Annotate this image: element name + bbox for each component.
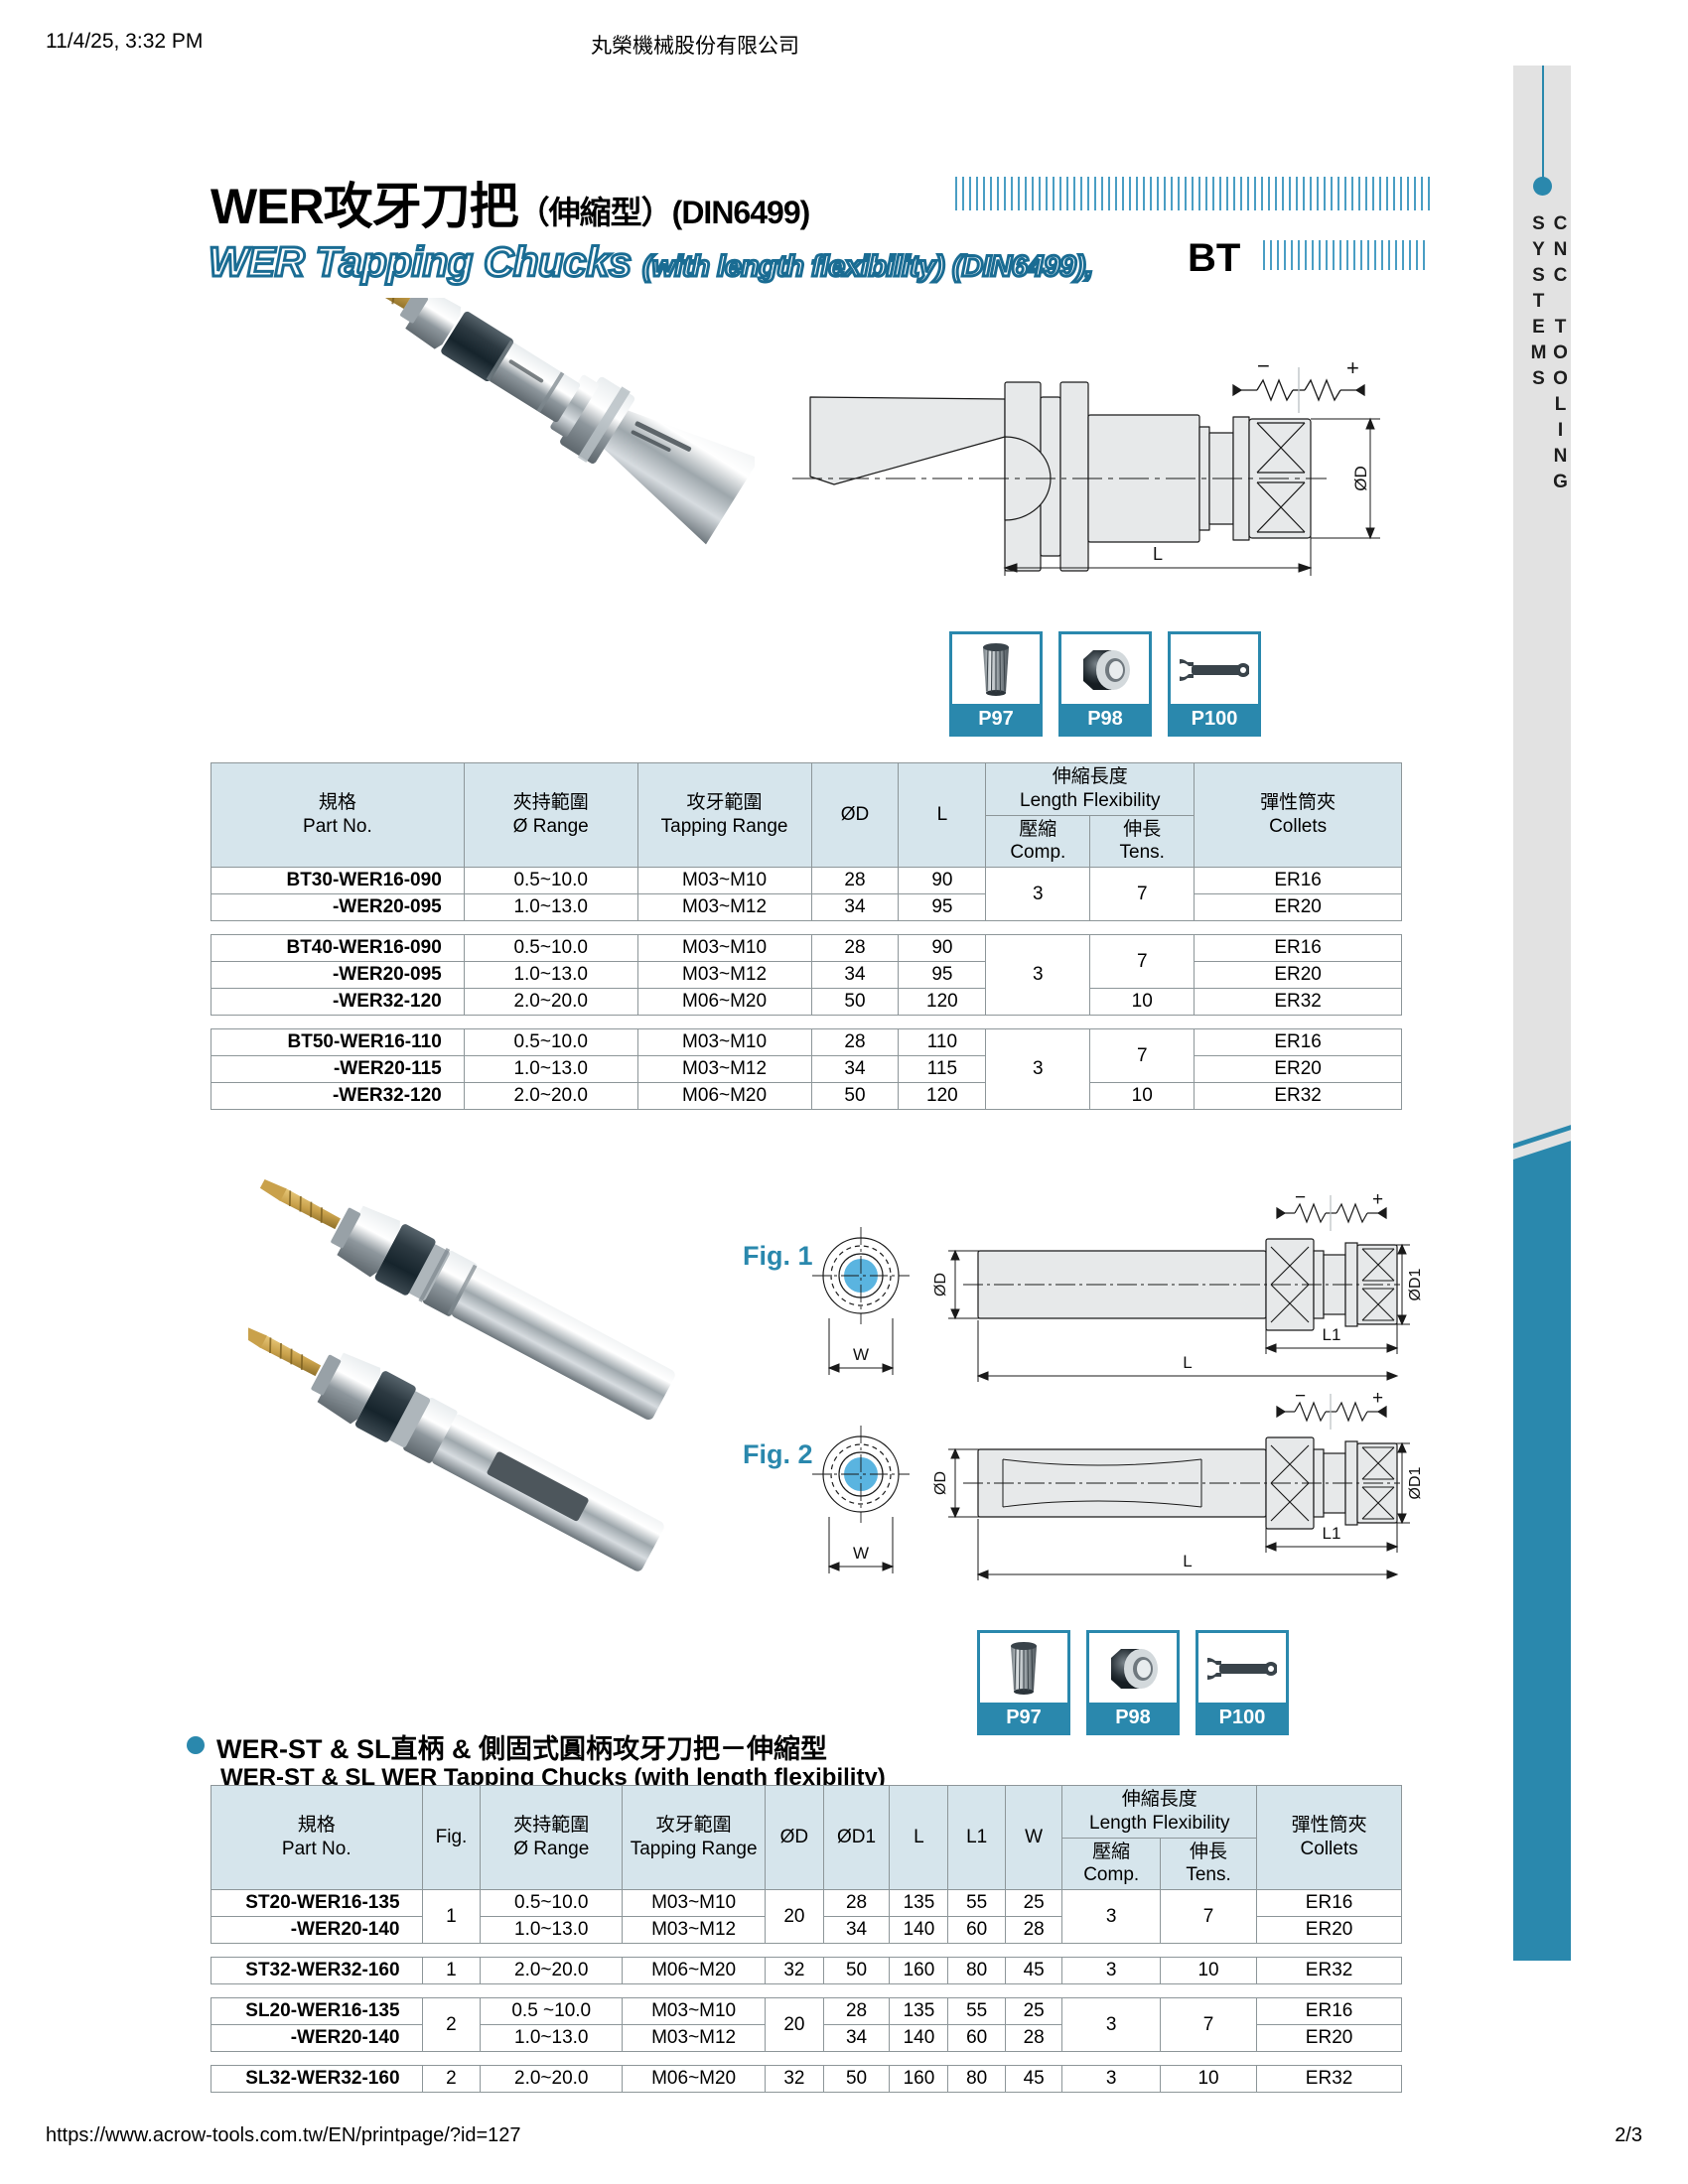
dim-label-l1-fig1: L1 <box>1323 1325 1341 1344</box>
cell-fig: 1 <box>422 1890 481 1944</box>
cell-l: 120 <box>899 1083 986 1110</box>
cell-range: 0.5~10.0 <box>464 935 637 962</box>
product-photo-st-tapping-chuck <box>248 1161 715 1578</box>
dim-label-l-top: L <box>1153 544 1163 564</box>
th2-fig: Fig. <box>422 1786 481 1890</box>
cell-tapping-range: M06~M20 <box>637 1083 811 1110</box>
cell-comp: 3 <box>1062 2066 1161 2093</box>
th-tens-en: Tens. <box>1120 842 1165 863</box>
th-tens: 伸長 Tens. <box>1090 815 1195 868</box>
cell-comp: 3 <box>986 1029 1090 1110</box>
cell-comp: 3 <box>986 868 1090 921</box>
decorative-hatch-bottom <box>1263 240 1430 270</box>
dimension-lines-fig2: L1 L <box>804 1519 1400 1608</box>
cell-fig: 1 <box>422 1958 481 1984</box>
cell-w: 45 <box>1005 2066 1062 2093</box>
cell-range: 1.0~13.0 <box>464 894 637 921</box>
cell-comp: 3 <box>1062 1998 1161 2052</box>
th-collets: 彈性筒夾 Collets <box>1195 763 1402 868</box>
table-group-gap <box>211 2052 1402 2066</box>
cell-od1: 28 <box>823 1998 890 2025</box>
th2-comp-en: Comp. <box>1083 1864 1139 1885</box>
th2-comp-cn: 壓縮 <box>1092 1842 1130 1862</box>
cell-part-no: -WER32-120 <box>211 1083 465 1110</box>
cell-tapping-range: M03~M12 <box>623 1917 766 1944</box>
ref-box-label: P98 <box>1089 1703 1177 1732</box>
cell-l1: 80 <box>948 1958 1006 1984</box>
cell-collets: ER20 <box>1195 962 1402 989</box>
dim-label-l1-fig2: L1 <box>1323 1524 1341 1543</box>
cell-tapping-range: M03~M10 <box>623 1890 766 1917</box>
cell-od1: 28 <box>823 1890 890 1917</box>
table-row: ST20-WER16-13510.5~10.0M03~M102028135552… <box>211 1890 1402 1917</box>
cell-part-no: BT50-WER16-110 <box>211 1029 465 1056</box>
cell-collets: ER20 <box>1195 1056 1402 1083</box>
table-row: BT40-WER16-0900.5~10.0M03~M10289037ER16 <box>211 935 1402 962</box>
table-group-gap <box>211 921 1402 935</box>
cell-w: 28 <box>1005 1917 1062 1944</box>
ref-box-label: P97 <box>980 1703 1067 1732</box>
table-group-gap <box>211 1984 1402 1998</box>
spring-plus-label-top: + <box>1346 355 1359 380</box>
cell-l1: 55 <box>948 1998 1006 2025</box>
cell-tapping-range: M06~M20 <box>623 2066 766 2093</box>
th2-l: L <box>890 1786 948 1890</box>
cell-l: 120 <box>899 989 986 1016</box>
page-title-en-comma: , <box>1085 250 1093 283</box>
spring-minus-label-fig1: − <box>1295 1191 1306 1208</box>
collet-nut-icon <box>1061 634 1149 706</box>
cell-od: 28 <box>811 1029 899 1056</box>
cell-tapping-range: M03~M12 <box>637 962 811 989</box>
page-title-cn: WER攻牙刀把（伸縮型）(DIN6499) <box>211 167 809 238</box>
cell-collets: ER32 <box>1257 1958 1402 1984</box>
cell-tapping-range: M03~M10 <box>623 1998 766 2025</box>
cell-tens: 7 <box>1090 868 1195 921</box>
table-row: BT50-WER16-1100.5~10.0M03~M102811037ER16 <box>211 1029 1402 1056</box>
cell-l: 135 <box>890 1998 948 2025</box>
spec-table-st-sl-header: 規格 Part No. Fig. 夾持範圍 Ø Range 攻牙範圍 Tappi… <box>211 1786 1402 1890</box>
cell-collets: ER32 <box>1195 1083 1402 1110</box>
cell-range: 0.5~10.0 <box>464 868 637 894</box>
ref-box-label: P98 <box>1061 704 1149 734</box>
ref-box-p100-bottom[interactable]: P100 <box>1196 1630 1289 1735</box>
th-comp-cn: 壓縮 <box>1019 819 1056 840</box>
cell-collets: ER16 <box>1257 1890 1402 1917</box>
dim-label-od-fig1: ØD <box>932 1273 949 1297</box>
cell-range: 0.5~10.0 <box>464 1029 637 1056</box>
th2-flex-en: Length Flexibility <box>1089 1813 1230 1834</box>
collet-icon <box>980 1633 1067 1705</box>
th2-comp: 壓縮 Comp. <box>1062 1838 1161 1890</box>
ref-box-p98-bottom[interactable]: P98 <box>1086 1630 1180 1735</box>
cell-l: 95 <box>899 894 986 921</box>
cell-l: 160 <box>890 1958 948 1984</box>
cell-od: 28 <box>811 935 899 962</box>
dim-label-od-fig2: ØD <box>932 1471 949 1495</box>
cell-part-no: BT40-WER16-090 <box>211 935 465 962</box>
sidebar-blue-band <box>1513 1176 1571 1961</box>
cell-od1: 50 <box>823 1958 890 1984</box>
cell-od: 34 <box>811 894 899 921</box>
cell-range: 2.0~20.0 <box>481 2066 623 2093</box>
th2-flex-cn: 伸縮長度 <box>1122 1789 1197 1810</box>
cell-collets: ER20 <box>1195 894 1402 921</box>
cell-od: 20 <box>766 1890 823 1944</box>
table-group-gap <box>211 1944 1402 1958</box>
page-title-badge: BT <box>1188 236 1240 281</box>
th-tens-cn: 伸長 <box>1123 819 1161 840</box>
cell-tapping-range: M03~M12 <box>637 1056 811 1083</box>
dim-label-od-top: ØD <box>1351 466 1370 491</box>
th2-tapping-en: Tapping Range <box>631 1839 758 1859</box>
ref-box-p97-bottom[interactable]: P97 <box>977 1630 1070 1735</box>
table-row: -WER20-0951.0~13.0M03~M123495ER20 <box>211 962 1402 989</box>
dim-label-l-fig1: L <box>1183 1353 1192 1372</box>
cell-od: 32 <box>766 2066 823 2093</box>
cell-part-no: -WER32-120 <box>211 989 465 1016</box>
th2-range-en: Ø Range <box>513 1839 589 1859</box>
cell-l: 110 <box>899 1029 986 1056</box>
cell-od: 34 <box>811 962 899 989</box>
page-content: WER攻牙刀把（伸縮型）(DIN6499) WER Tapping Chucks… <box>0 0 1513 2184</box>
th2-tens-cn: 伸長 <box>1190 1842 1227 1862</box>
cell-w: 28 <box>1005 2025 1062 2052</box>
spec-table-bt-body: BT30-WER16-0900.5~10.0M03~M10289037ER16-… <box>211 868 1402 1110</box>
table-row: -WER20-0951.0~13.0M03~M123495ER20 <box>211 894 1402 921</box>
cell-range: 0.5~10.0 <box>481 1890 623 1917</box>
print-footer: https://www.acrow-tools.com.tw/EN/printp… <box>0 2124 1688 2158</box>
cell-tens: 7 <box>1090 935 1195 989</box>
cell-collets: ER16 <box>1195 868 1402 894</box>
spec-table-st-sl: 規格 Part No. Fig. 夾持範圍 Ø Range 攻牙範圍 Tappi… <box>211 1785 1402 2093</box>
page-title-en-small: (with length flexibility) (DIN6499) <box>642 250 1085 283</box>
cell-od: 20 <box>766 1998 823 2052</box>
cell-l: 115 <box>899 1056 986 1083</box>
th2-tapping-range: 攻牙範圍 Tapping Range <box>623 1786 766 1890</box>
cell-part-no: -WER20-095 <box>211 894 465 921</box>
table-row: -WER32-1202.0~20.0M06~M205012010ER32 <box>211 1083 1402 1110</box>
th2-collets: 彈性筒夾 Collets <box>1257 1786 1402 1890</box>
spec-table-bt: 規格 Part No. 夾持範圍 Ø Range 攻牙範圍 Tapping Ra… <box>211 762 1402 1110</box>
cell-od: 50 <box>811 1083 899 1110</box>
cell-part-no: -WER20-140 <box>211 1917 423 1944</box>
table-row: -WER32-1202.0~20.0M06~M205012010ER32 <box>211 989 1402 1016</box>
cell-tapping-range: M03~M10 <box>637 1029 811 1056</box>
spring-minus-label-fig2: − <box>1295 1390 1306 1407</box>
cell-part-no: -WER20-115 <box>211 1056 465 1083</box>
cell-part-no: ST32-WER32-160 <box>211 1958 423 1984</box>
cell-od: 50 <box>811 989 899 1016</box>
dim-label-od1-fig2: ØD1 <box>1407 1466 1424 1499</box>
cell-l1: 55 <box>948 1890 1006 1917</box>
ref-box-label: P97 <box>952 704 1040 734</box>
table-row: -WER20-1151.0~13.0M03~M1234115ER20 <box>211 1056 1402 1083</box>
ref-box-p97-top[interactable]: P97 <box>949 631 1043 737</box>
cell-part-no: -WER20-140 <box>211 2025 423 2052</box>
th2-collets-cn: 彈性筒夾 <box>1292 1815 1367 1836</box>
cell-od: 32 <box>766 1958 823 1984</box>
cell-fig: 2 <box>422 2066 481 2093</box>
th2-od: ØD <box>766 1786 823 1890</box>
cell-collets: ER32 <box>1257 2066 1402 2093</box>
decorative-hatch-top <box>955 177 1432 210</box>
dimension-line-l-top: L <box>774 536 1390 596</box>
cell-l: 135 <box>890 1890 948 1917</box>
ref-box-label: P100 <box>1198 1703 1286 1732</box>
cell-tapping-range: M03~M10 <box>637 935 811 962</box>
cell-tens: 7 <box>1090 1029 1195 1083</box>
cell-range: 1.0~13.0 <box>481 2025 623 2052</box>
th2-w: W <box>1005 1786 1062 1890</box>
collet-nut-icon <box>1089 1633 1177 1705</box>
th-part-no: 規格 Part No. <box>211 763 465 868</box>
th2-od1: ØD1 <box>823 1786 890 1890</box>
cell-part-no: BT30-WER16-090 <box>211 868 465 894</box>
cell-od1: 34 <box>823 2025 890 2052</box>
ref-box-p98-top[interactable]: P98 <box>1058 631 1152 737</box>
table-row: SL32-WER32-16022.0~20.0M06~M203250160804… <box>211 2066 1402 2093</box>
spec-table-bt-header: 規格 Part No. 夾持範圍 Ø Range 攻牙範圍 Tapping Ra… <box>211 763 1402 868</box>
cell-l: 90 <box>899 935 986 962</box>
th2-part-no: 規格 Part No. <box>211 1786 423 1890</box>
cell-od1: 50 <box>823 2066 890 2093</box>
cell-part-no: SL20-WER16-135 <box>211 1998 423 2025</box>
page-title-en: WER Tapping Chucks (with length flexibil… <box>209 238 1093 286</box>
ref-box-p100-top[interactable]: P100 <box>1168 631 1261 737</box>
cell-l: 140 <box>890 2025 948 2052</box>
th-flex-en: Length Flexibility <box>1020 790 1161 811</box>
sidebar-bullet-dot-icon <box>1533 177 1552 196</box>
cell-od1: 34 <box>823 1917 890 1944</box>
cell-comp: 3 <box>986 935 1090 1016</box>
cell-part-no: SL32-WER32-160 <box>211 2066 423 2093</box>
th-od: ØD <box>811 763 899 868</box>
cell-comp: 3 <box>1062 1890 1161 1944</box>
dimension-od1-fig2: ØD1 <box>1380 1390 1430 1549</box>
th2-length-flexibility: 伸縮長度 Length Flexibility <box>1062 1786 1257 1839</box>
th2-range: 夾持範圍 Ø Range <box>481 1786 623 1890</box>
cell-l1: 60 <box>948 1917 1006 1944</box>
cell-od: 34 <box>811 1056 899 1083</box>
th-tapping-cn: 攻牙範圍 <box>687 792 763 813</box>
spring-minus-label-top: − <box>1257 353 1270 378</box>
table-row: ST32-WER32-16012.0~20.0M06~M203250160804… <box>211 1958 1402 1984</box>
th2-tens-en: Tens. <box>1186 1864 1230 1885</box>
th2-l1: L1 <box>948 1786 1006 1890</box>
cell-w: 25 <box>1005 1998 1062 2025</box>
dim-label-od1-fig1: ØD1 <box>1407 1268 1424 1300</box>
sidebar-accent-line <box>1542 66 1544 183</box>
th2-part-no-en: Part No. <box>282 1839 352 1859</box>
cell-w: 45 <box>1005 1958 1062 1984</box>
th-collets-cn: 彈性筒夾 <box>1260 792 1336 813</box>
cell-tens: 10 <box>1090 1083 1195 1110</box>
spec-table-st-sl-body: ST20-WER16-13510.5~10.0M03~M102028135552… <box>211 1890 1402 2093</box>
cell-tens: 10 <box>1160 1958 1256 1984</box>
cell-comp: 3 <box>1062 1958 1161 1984</box>
cell-l: 95 <box>899 962 986 989</box>
th-flex-cn: 伸縮長度 <box>1053 766 1128 787</box>
dimension-od1-fig1: ØD1 <box>1380 1191 1430 1350</box>
th-part-no-cn: 規格 <box>319 792 356 813</box>
cell-tens: 7 <box>1160 1890 1256 1944</box>
wrench-icon <box>1198 1633 1286 1705</box>
th-comp-en: Comp. <box>1010 842 1065 863</box>
collet-icon <box>952 634 1040 706</box>
th2-range-cn: 夾持範圍 <box>513 1815 589 1836</box>
cell-collets: ER16 <box>1195 1029 1402 1056</box>
cell-range: 2.0~20.0 <box>464 989 637 1016</box>
cell-tens: 10 <box>1090 989 1195 1016</box>
th2-collets-en: Collets <box>1301 1839 1358 1859</box>
ref-box-label: P100 <box>1171 704 1258 734</box>
wrench-icon <box>1171 634 1258 706</box>
cell-tapping-range: M06~M20 <box>623 1958 766 1984</box>
table-row: SL20-WER16-13520.5 ~10.0M03~M10202813555… <box>211 1998 1402 2025</box>
cell-tens: 10 <box>1160 2066 1256 2093</box>
th-tapping-range: 攻牙範圍 Tapping Range <box>637 763 811 868</box>
cell-l1: 80 <box>948 2066 1006 2093</box>
cell-l1: 60 <box>948 2025 1006 2052</box>
th2-tapping-cn: 攻牙範圍 <box>656 1815 732 1836</box>
cell-range: 1.0~13.0 <box>464 962 637 989</box>
th-range-cn: 夾持範圍 <box>513 792 589 813</box>
cell-l: 160 <box>890 2066 948 2093</box>
figure-label-1: Fig. 1 <box>743 1241 813 1272</box>
th-comp: 壓縮 Comp. <box>986 815 1090 868</box>
cell-l: 90 <box>899 868 986 894</box>
cell-fig: 2 <box>422 1998 481 2052</box>
cell-tens: 7 <box>1160 1998 1256 2052</box>
th2-part-no-cn: 規格 <box>298 1815 336 1836</box>
print-page-number: 2/3 <box>1615 2124 1642 2147</box>
product-photo-bt-tapping-chuck <box>328 298 755 655</box>
cell-part-no: ST20-WER16-135 <box>211 1890 423 1917</box>
cell-collets: ER16 <box>1195 935 1402 962</box>
section-bullet-icon <box>187 1736 205 1754</box>
cell-range: 2.0~20.0 <box>464 1083 637 1110</box>
dim-label-l-fig2: L <box>1183 1552 1192 1570</box>
cell-part-no: -WER20-095 <box>211 962 465 989</box>
page-title-en-main: WER Tapping Chucks <box>209 238 632 285</box>
th-l: L <box>899 763 986 868</box>
cell-tapping-range: M03~M10 <box>637 868 811 894</box>
cell-od: 28 <box>811 868 899 894</box>
page-title-cn-paren: （伸縮型）(DIN6499) <box>518 195 810 230</box>
page-title-cn-main: WER攻牙刀把 <box>211 179 518 234</box>
cell-l: 140 <box>890 1917 948 1944</box>
sidebar-title: CNC TOOLING SYSTEMS <box>1513 213 1571 670</box>
cell-tapping-range: M03~M12 <box>623 2025 766 2052</box>
cell-collets: ER32 <box>1195 989 1402 1016</box>
cell-collets: ER20 <box>1257 2025 1402 2052</box>
th-range-en: Ø Range <box>513 816 589 837</box>
cell-range: 2.0~20.0 <box>481 1958 623 1984</box>
table-row: BT30-WER16-0900.5~10.0M03~M10289037ER16 <box>211 868 1402 894</box>
print-source-url: https://www.acrow-tools.com.tw/EN/printp… <box>46 2124 521 2147</box>
cell-range: 0.5 ~10.0 <box>481 1998 623 2025</box>
cell-collets: ER16 <box>1257 1998 1402 2025</box>
cell-range: 1.0~13.0 <box>481 1917 623 1944</box>
th-range: 夾持範圍 Ø Range <box>464 763 637 868</box>
section-heading-cn: WER-ST & SL直柄 & 側固式圓柄攻牙刀把－伸縮型 <box>216 1727 827 1766</box>
th-length-flexibility: 伸縮長度 Length Flexibility <box>986 763 1195 816</box>
cell-tapping-range: M06~M20 <box>637 989 811 1016</box>
table-group-gap <box>211 1016 1402 1029</box>
figure-label-2: Fig. 2 <box>743 1439 813 1470</box>
th-tapping-en: Tapping Range <box>661 816 788 837</box>
cell-tapping-range: M03~M12 <box>637 894 811 921</box>
cell-collets: ER20 <box>1257 1917 1402 1944</box>
cell-range: 1.0~13.0 <box>464 1056 637 1083</box>
th2-tens: 伸長 Tens. <box>1160 1838 1256 1890</box>
th-collets-en: Collets <box>1269 816 1327 837</box>
cell-w: 25 <box>1005 1890 1062 1917</box>
th-part-no-en: Part No. <box>303 816 372 837</box>
